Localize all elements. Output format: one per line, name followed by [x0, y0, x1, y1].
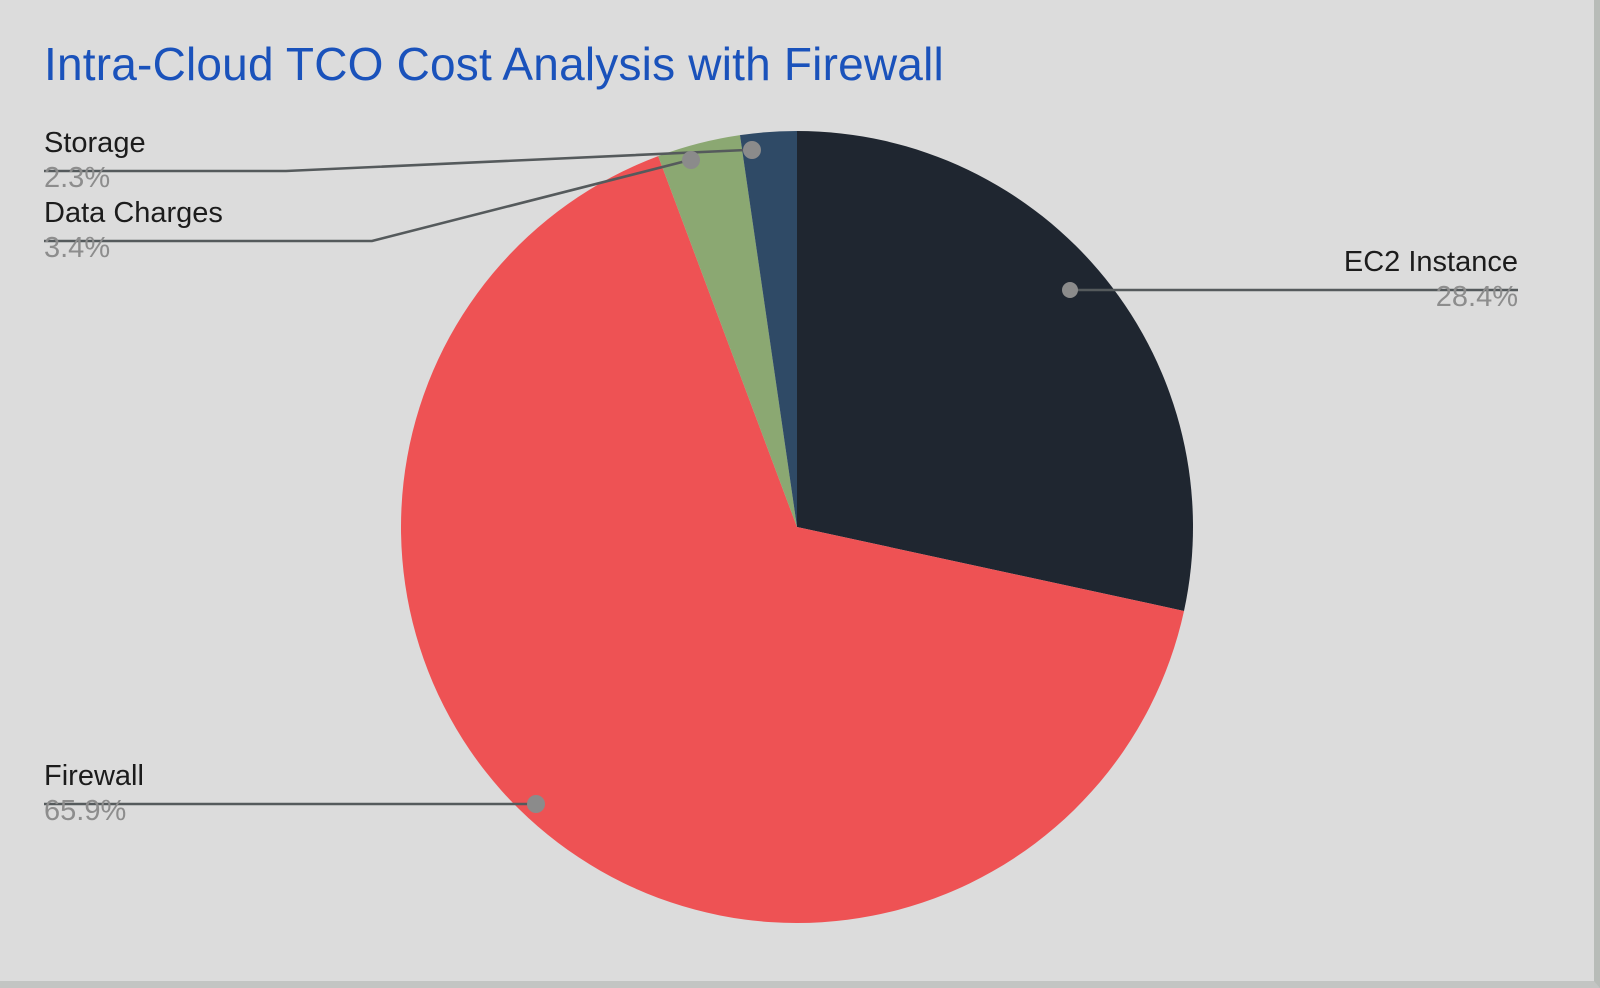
callout-storage-percent: 2.3%	[44, 160, 464, 196]
slide-canvas: Intra-Cloud TCO Cost Analysis with Firew…	[0, 0, 1600, 988]
pie-slice-ec2-instance[interactable]	[797, 131, 1193, 611]
leader-dot-ec2-instance	[1062, 282, 1078, 298]
callout-storage-label: Storage	[44, 126, 464, 160]
leader-dot-data-charges	[682, 151, 700, 169]
callout-ec2-instance-percent: 28.4%	[1118, 279, 1518, 315]
leader-dot-firewall	[527, 795, 545, 813]
callout-storage: Storage 2.3%	[44, 126, 464, 196]
callout-firewall-label: Firewall	[44, 759, 464, 793]
callout-ec2-instance-label: EC2 Instance	[1118, 245, 1518, 279]
callout-ec2-instance: EC2 Instance 28.4%	[1118, 245, 1518, 315]
callout-data-charges-percent: 3.4%	[44, 230, 464, 266]
leader-dot-storage	[743, 141, 761, 159]
callout-data-charges: Data Charges 3.4%	[44, 196, 464, 266]
callout-firewall: Firewall 65.9%	[44, 759, 464, 829]
callout-data-charges-label: Data Charges	[44, 196, 464, 230]
callout-firewall-percent: 65.9%	[44, 793, 464, 829]
